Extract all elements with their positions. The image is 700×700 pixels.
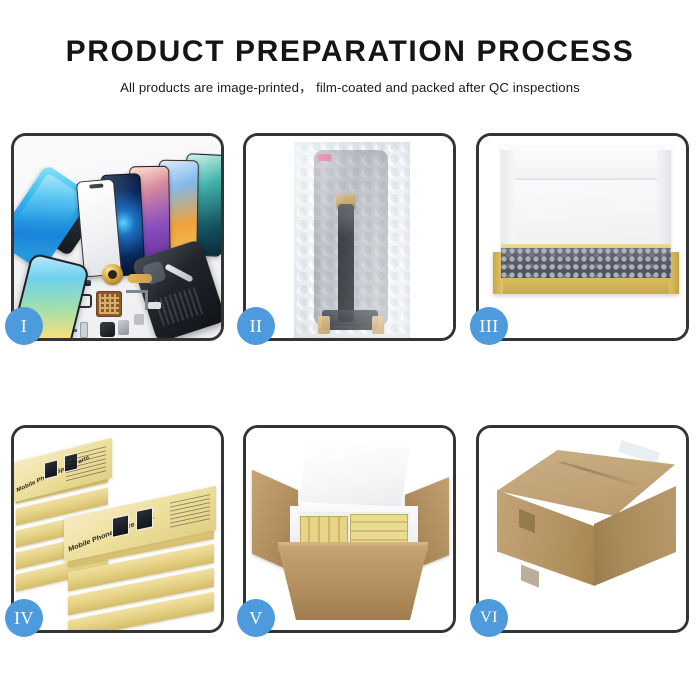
step-6-image (479, 428, 686, 630)
foam-insert (501, 248, 671, 278)
lid-side-right (657, 150, 671, 250)
step-5-image (246, 428, 453, 630)
step-2-image (246, 136, 453, 338)
foam-crate-lid (298, 444, 410, 506)
plastic-gloss-overlay (294, 142, 410, 338)
process-step-card-4: Mobile Phone Spare Parts Mobile Phone Sp… (11, 425, 224, 633)
box-stack: Mobile Phone Spare Parts Mobile Phone Sp… (14, 442, 221, 630)
process-step-card-6: VI (476, 425, 689, 633)
step-1-image (14, 136, 221, 338)
step-badge-6: VI (470, 599, 508, 637)
vibrator-motor (80, 322, 88, 338)
step-4-image: Mobile Phone Spare Parts Mobile Phone Sp… (14, 428, 221, 630)
sim-tray (134, 314, 144, 325)
box-spec-lines (170, 494, 210, 529)
process-step-card-5: V (243, 425, 456, 633)
step-badge-1: I (5, 307, 43, 345)
camera-module-secondary (118, 320, 129, 335)
bubble-wrap-bag (294, 142, 410, 338)
header: PRODUCT PREPARATION PROCESS All products… (0, 34, 700, 96)
process-step-grid: I II (11, 133, 689, 633)
page-title: PRODUCT PREPARATION PROCESS (0, 34, 700, 70)
box-label-window (112, 514, 129, 538)
step-badge-2: II (237, 307, 275, 345)
box-label-window (44, 459, 58, 479)
page-subtitle: All products are image-printed， film-coa… (0, 77, 700, 96)
ic-chip (96, 291, 122, 317)
step-badge-4: IV (5, 599, 43, 637)
product-preparation-infographic: PRODUCT PREPARATION PROCESS All products… (0, 0, 700, 700)
box-label-window (136, 507, 153, 531)
process-step-card-1: I (11, 133, 224, 341)
box-spec-lines (66, 446, 106, 482)
foam-bubble-texture (501, 248, 671, 278)
flex-cable-gold (128, 274, 152, 283)
flex-cable-grey (126, 290, 148, 310)
connector-part (148, 302, 161, 309)
process-step-card-2: II (243, 133, 456, 341)
step-badge-5: V (237, 599, 275, 637)
process-step-card-3: III (476, 133, 689, 341)
speaker-module (102, 264, 123, 285)
camera-module (100, 322, 115, 337)
white-box-lid (501, 146, 671, 258)
step-badge-3: III (470, 307, 508, 345)
carton-body (278, 546, 428, 620)
lid-side-left (501, 150, 515, 250)
step-3-image (479, 136, 686, 338)
